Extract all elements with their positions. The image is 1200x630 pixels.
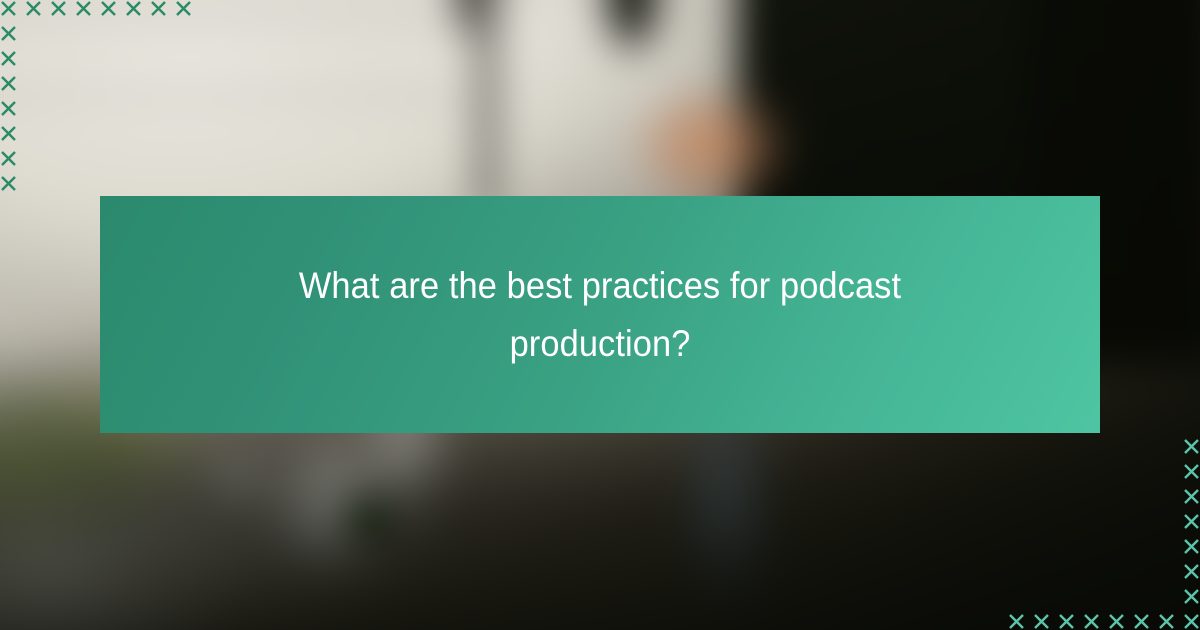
- headline-banner: What are the best practices for podcast …: [100, 196, 1100, 433]
- page-title: What are the best practices for podcast …: [284, 257, 916, 372]
- social-share-card: What are the best practices for podcast …: [0, 0, 1200, 630]
